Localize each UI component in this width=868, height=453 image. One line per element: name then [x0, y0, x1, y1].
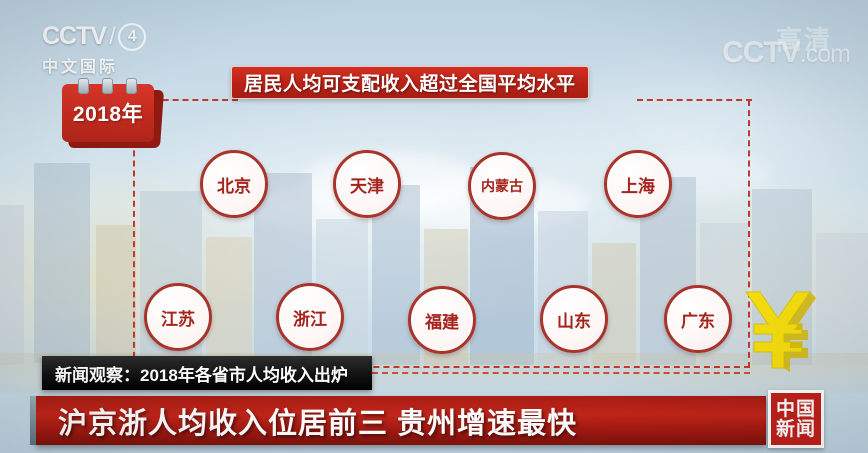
province-label: 福建	[425, 308, 459, 333]
province-circle-shandong[interactable]: 山东	[540, 285, 608, 353]
province-label: 江苏	[161, 305, 195, 330]
province-circle-tianjin[interactable]: 天津	[333, 150, 401, 218]
calendar-ring-icon	[126, 78, 137, 94]
building	[816, 233, 868, 365]
province-circle-guangdong[interactable]: 广东	[664, 285, 732, 353]
calendar-ring-icon	[102, 78, 113, 94]
province-label: 浙江	[293, 305, 327, 330]
year-label: 2018年	[73, 98, 143, 128]
cctv-wordmark: CCTV	[42, 22, 106, 51]
province-label: 内蒙古	[481, 176, 523, 196]
province-circle-fujian[interactable]: 福建	[408, 286, 476, 354]
watermark-suffix: .com	[800, 40, 850, 68]
province-label: 北京	[217, 172, 251, 197]
year-calendar-tag: 2018年	[62, 84, 154, 142]
cctv-com-watermark: CCTV.com	[722, 36, 850, 70]
province-circle-shanghai[interactable]: 上海	[604, 150, 672, 218]
lower-third-dashed-line	[372, 372, 750, 374]
calendar-ring-icon	[78, 78, 89, 94]
headline-bar-edge	[30, 396, 36, 445]
province-label: 广东	[681, 307, 715, 332]
building	[34, 163, 90, 363]
building	[0, 205, 24, 365]
yuan-currency-icon	[738, 286, 818, 372]
province-label: 天津	[350, 172, 384, 197]
lower-third-subtitle-bar: 新闻观察：2018年各省市人均收入出炉	[42, 356, 372, 390]
program-logo-inner: 中国 新闻	[771, 393, 821, 445]
top-banner: 居民人均可支配收入超过全国平均水平	[231, 66, 589, 99]
program-logo: 中国 新闻	[768, 390, 824, 448]
province-circle-zhejiang[interactable]: 浙江	[276, 283, 344, 351]
province-circle-inner-mongolia[interactable]: 内蒙古	[468, 152, 536, 220]
lower-third-headline-bar: 沪京浙人均收入位居前三 贵州增速最快	[36, 396, 766, 445]
lower-third-headline: 沪京浙人均收入位居前三 贵州增速最快	[58, 400, 577, 442]
watermark-text: CCTV	[722, 36, 800, 69]
province-label: 上海	[621, 172, 655, 197]
program-logo-line2: 新闻	[776, 420, 816, 439]
cctv-logo-row: CCTV / 4	[42, 22, 162, 51]
province-label: 山东	[557, 307, 591, 332]
building	[96, 225, 136, 365]
province-circle-beijing[interactable]: 北京	[200, 150, 268, 218]
top-banner-title: 居民人均可支配收入超过全国平均水平	[244, 69, 576, 96]
logo-slash-icon: /	[109, 23, 115, 51]
lower-third-subtitle: 新闻观察：2018年各省市人均收入出炉	[55, 361, 348, 386]
broadcast-graphic: 2018年 居民人均可支配收入超过全国平均水平 北京 天津 内蒙古 上海 江苏 …	[0, 0, 868, 453]
province-circle-jiangsu[interactable]: 江苏	[144, 283, 212, 351]
cctv4-channel-logo: CCTV / 4 中文国际	[42, 22, 162, 74]
program-logo-line1: 中国	[776, 400, 816, 419]
channel-number: 4	[118, 23, 146, 51]
channel-subtitle: 中文国际	[42, 53, 162, 77]
